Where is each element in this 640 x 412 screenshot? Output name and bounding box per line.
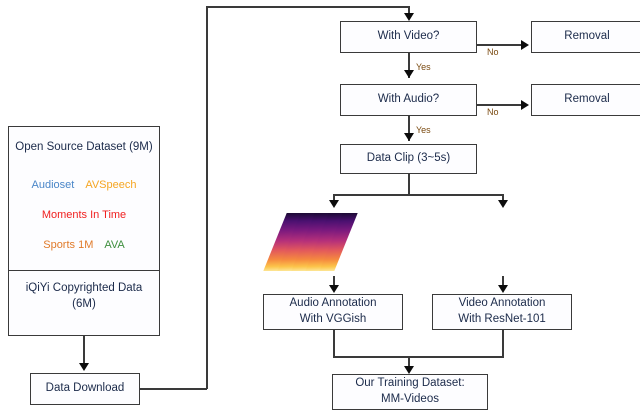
edge-label-audio-no: No [487,107,499,117]
iqiyi-copyrighted-data-section: iQiYi Copyrighted Data (6M) [9,271,159,335]
training-dataset-line2: MM-Videos [381,392,439,408]
connector-download-right [140,388,207,390]
arrowhead-audio-annotation [329,285,339,293]
arrowhead-video-no [521,40,529,50]
connector-branch-split [333,194,504,196]
connector-clip-down [408,174,410,195]
open-source-title-line1: Open Source Dataset [15,141,126,153]
data-download-label: Data Download [46,381,125,397]
arrowhead-branch-left [329,200,339,208]
edge-label-audio-yes: Yes [416,125,431,135]
edge-label-video-no: No [487,47,499,57]
connector-panel-to-download [83,336,85,365]
arrowhead-training-dataset [404,366,414,374]
connector-feedback-vertical [206,6,208,389]
arrowhead-into-with-video [404,13,414,21]
video-annotation-line2: With ResNet-101 [458,312,546,328]
connector-video-no [477,44,523,46]
audio-spectrogram-thumbnails [275,213,345,271]
node-data-download[interactable]: Data Download [30,373,140,405]
arrowhead-audio-yes [404,133,414,141]
connector-video-annotation-down [502,330,504,357]
dataset-row-1: Audioset AVSpeech [9,179,159,191]
with-video-label: With Video? [378,29,440,45]
node-removal-audio[interactable]: Removal [531,84,640,116]
with-audio-label: With Audio? [378,92,439,108]
removal-audio-label: Removal [564,92,609,108]
connector-audio-no [477,104,523,106]
open-source-dataset-section: Open Source Dataset (9M) Audioset AVSpee… [9,127,159,271]
connector-audio-annotation-down [333,330,335,357]
flowchart-diagram: Open Source Dataset (9M) Audioset AVSpee… [0,0,640,412]
node-video-annotation[interactable]: Video Annotation With ResNet-101 [432,294,572,330]
node-data-clip[interactable]: Data Clip (3~5s) [340,144,477,174]
dataset-name-audioset: Audioset [32,179,75,191]
dataset-name-moments-in-time: Moments In Time [42,209,126,221]
dataset-name-ava: AVA [104,239,124,251]
dataset-source-panel: Open Source Dataset (9M) Audioset AVSpee… [8,126,160,336]
node-audio-annotation[interactable]: Audio Annotation With VGGish [263,294,403,330]
audio-annotation-line2: With VGGish [300,312,366,328]
dataset-row-2: Moments In Time [9,209,159,221]
connector-merge-bar [333,356,504,358]
audio-annotation-line1: Audio Annotation [290,296,377,312]
iqiyi-title-line1: iQiYi Copyrighted Data [26,280,143,296]
dataset-row-3: Sports 1M AVA [9,239,159,251]
training-dataset-line1: Our Training Dataset: [355,376,464,392]
data-clip-label: Data Clip (3~5s) [367,151,450,167]
video-annotation-line1: Video Annotation [459,296,546,312]
removal-video-label: Removal [564,29,609,45]
iqiyi-title-line2: (6M) [72,296,96,312]
arrowhead-panel-to-download [79,363,89,371]
connector-feedback-top [206,6,409,8]
edge-label-video-yes: Yes [416,62,431,72]
node-with-audio[interactable]: With Audio? [340,84,477,116]
node-training-dataset[interactable]: Our Training Dataset: MM-Videos [332,374,488,410]
arrowhead-video-annotation [498,285,508,293]
dataset-name-sports-1m: Sports 1M [43,239,93,251]
video-frame-thumbnails [443,213,527,271]
arrowhead-video-yes [404,70,414,78]
arrowhead-branch-right [498,200,508,208]
open-source-dataset-title: Open Source Dataset (9M) [15,140,152,156]
node-removal-video[interactable]: Removal [531,21,640,53]
dataset-name-avspeech: AVSpeech [85,179,136,191]
arrowhead-audio-no [521,100,529,110]
node-with-video[interactable]: With Video? [340,21,477,53]
open-source-title-line2: (9M) [129,141,153,153]
